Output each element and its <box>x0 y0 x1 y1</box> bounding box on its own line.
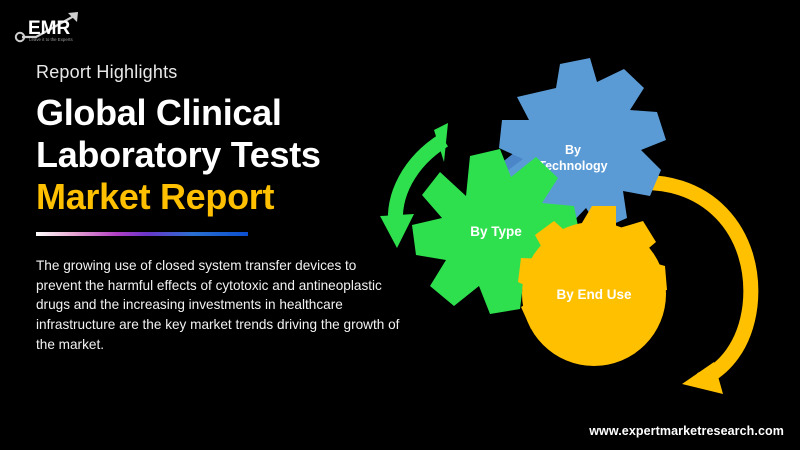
title-line-1: Global Clinical <box>36 92 416 134</box>
segmentation-gear-diagram: By Technology By Type By End Use <box>378 44 798 404</box>
eyebrow-label: Report Highlights <box>36 62 416 84</box>
report-summary-text: The growing use of closed system transfe… <box>36 256 404 355</box>
gear-label-technology-line1: By <box>565 143 581 157</box>
website-url[interactable]: www.expertmarketresearch.com <box>589 424 784 438</box>
page-title: Global Clinical Laboratory Tests Market … <box>36 92 416 218</box>
title-line-3: Market Report <box>36 176 416 218</box>
emr-logo[interactable]: EMR Leave it to the Experts <box>12 8 104 44</box>
report-header-block: Report Highlights Global Clinical Labora… <box>36 62 416 354</box>
title-line-2: Laboratory Tests <box>36 134 416 176</box>
gradient-divider <box>36 232 248 236</box>
logo-wordmark: EMR <box>28 18 71 39</box>
gear-label-type: By Type <box>470 224 522 239</box>
logo-tagline: Leave it to the Experts <box>29 37 73 42</box>
gear-label-end-use: By End Use <box>556 287 632 302</box>
